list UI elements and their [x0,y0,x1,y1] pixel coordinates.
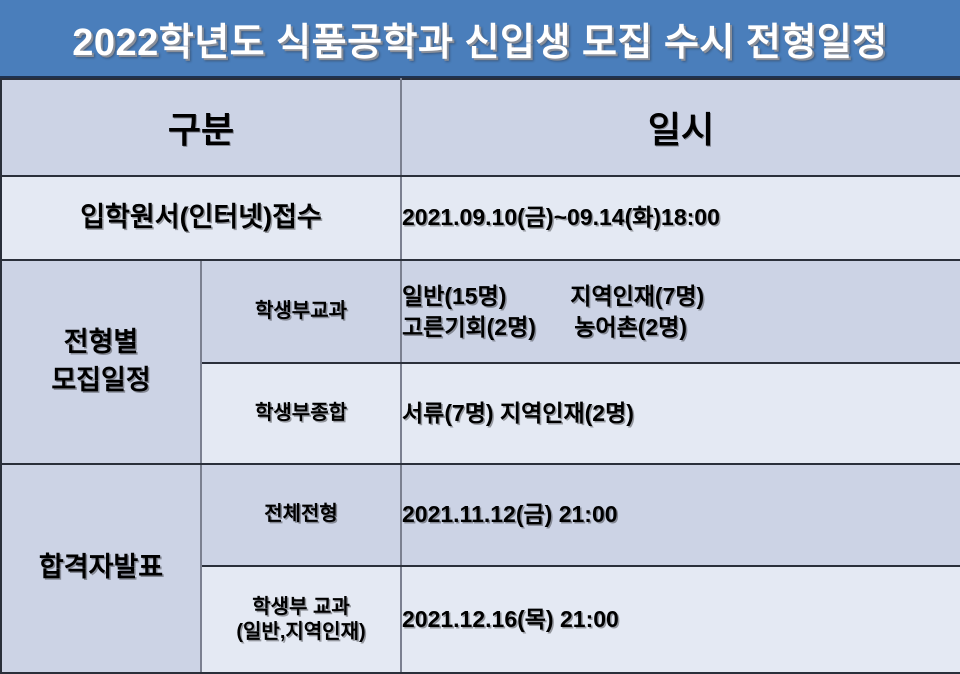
table-header-row: 구분 일시 [1,79,960,176]
row-value-student-record-subject-general: 2021.12.16(목) 21:00 [401,566,960,673]
poster-title-bar: 2022학년도 식품공학과 신입생 모집 수시 전형일정 [0,0,960,78]
row-value-line-2: 고른기회(2명) 농어촌(2명) [402,312,960,343]
column-header-category: 구분 [1,79,401,176]
column-header-schedule: 일시 [401,79,960,176]
admission-schedule-table: 구분 일시 입학원서(인터넷)접수 2021.09.10(금)~09.14(화)… [0,78,960,674]
row-label-line-1: 전형별 [2,324,200,362]
row-value-student-record-subject: 일반(15명) 지역인재(7명) 고른기회(2명) 농어촌(2명) [401,260,960,363]
table-row: 합격자발표 전체전형 2021.11.12(금) 21:00 [1,464,960,567]
row-sublabel-student-record-subject-general: 학생부 교과 (일반,지역인재) [201,566,401,673]
row-sublabel-line-1: 학생부 교과 [202,595,400,620]
row-value-application: 2021.09.10(금)~09.14(화)18:00 [401,176,960,261]
row-sublabel-student-record-comprehensive: 학생부종합 [201,363,401,464]
row-value-all-admission-types: 2021.11.12(금) 21:00 [401,464,960,567]
row-label-result-announcement: 합격자발표 [1,464,201,673]
row-sublabel-student-record-subject: 학생부교과 [201,260,401,363]
page-title: 2022학년도 식품공학과 신입생 모집 수시 전형일정 [72,11,888,66]
row-label-recruitment-schedule: 전형별 모집일정 [1,260,201,463]
row-sublabel-line-2: (일반,지역인재) [202,620,400,645]
poster-root: 2022학년도 식품공학과 신입생 모집 수시 전형일정 구분 일시 입학원서(… [0,0,960,674]
row-value-student-record-comprehensive: 서류(7명) 지역인재(2명) [401,363,960,464]
row-sublabel-all-admission-types: 전체전형 [201,464,401,567]
table-row: 입학원서(인터넷)접수 2021.09.10(금)~09.14(화)18:00 [1,176,960,261]
table-row: 전형별 모집일정 학생부교과 일반(15명) 지역인재(7명) 고른기회(2명)… [1,260,960,363]
row-label-application: 입학원서(인터넷)접수 [1,176,401,261]
row-value-line-1: 일반(15명) 지역인재(7명) [402,281,960,312]
row-label-line-2: 모집일정 [2,362,200,400]
